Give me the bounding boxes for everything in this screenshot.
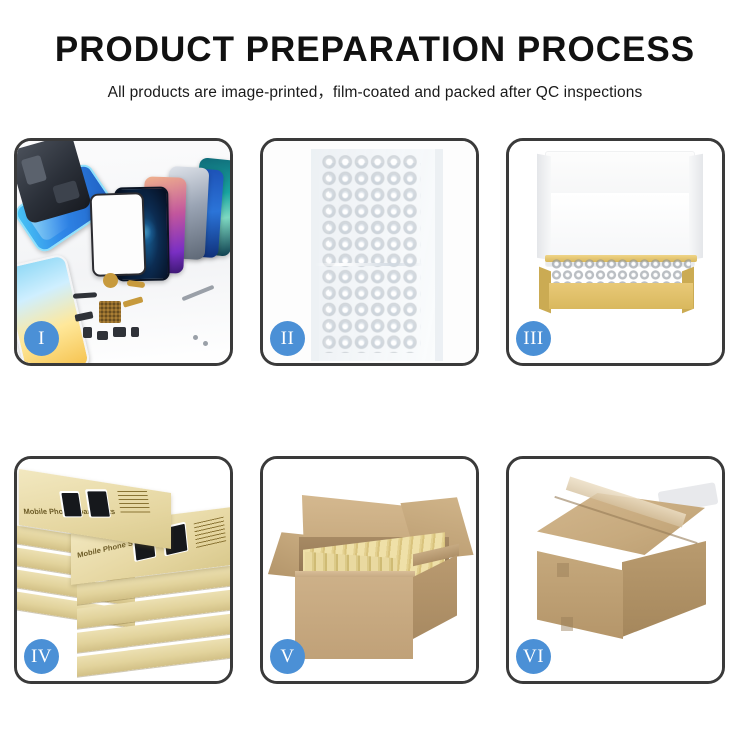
part-connector-1 <box>83 327 92 338</box>
step-badge-1: I <box>24 321 59 356</box>
retail-box-window-back-2 <box>85 489 111 517</box>
page-title: PRODUCT PREPARATION PROCESS <box>0 32 750 69</box>
bubble-wrapped-contents <box>551 259 691 285</box>
part-taptic-engine <box>113 327 126 337</box>
white-foam-sheet <box>551 193 689 257</box>
part-screw-2 <box>203 341 208 346</box>
part-connector-2 <box>97 331 108 340</box>
process-step-panel-1[interactable]: I <box>14 138 233 366</box>
process-step-panel-5[interactable]: V <box>260 456 479 684</box>
step-badge-5: V <box>270 639 305 674</box>
process-step-panel-6[interactable]: VI <box>506 456 725 684</box>
step-badge-6: VI <box>516 639 551 674</box>
process-step-panel-3[interactable]: III <box>506 138 725 366</box>
part-screw-1 <box>193 335 198 340</box>
carton-front-panel <box>295 577 413 659</box>
process-step-panel-4[interactable]: Mobile Phone Spare Parts Mobile Phone Sp… <box>14 456 233 684</box>
retail-box-window-back-1 <box>59 491 83 517</box>
box-front-panel <box>549 283 693 309</box>
pouch-seam <box>315 263 423 266</box>
bubble-pattern-back <box>329 163 421 353</box>
process-step-panel-2[interactable]: II <box>260 138 479 366</box>
step-badge-2: II <box>270 321 305 356</box>
tempered-glass-protector <box>90 192 147 277</box>
part-camera-module <box>99 301 121 323</box>
retail-box-spec-text-back <box>117 491 150 515</box>
page-header: PRODUCT PREPARATION PROCESS All products… <box>0 0 750 102</box>
page-subtitle: All products are image-printed，film-coat… <box>0 80 750 102</box>
process-step-grid: I II III <box>14 138 736 684</box>
carton-handle-tab-top <box>557 563 569 577</box>
step-badge-4: IV <box>24 639 59 674</box>
retail-box-spec-text-front <box>194 517 227 549</box>
carton-handle-tab-bottom <box>561 617 573 631</box>
part-sim-tray <box>131 327 139 337</box>
part-speaker-gold <box>103 273 118 288</box>
step-badge-3: III <box>516 321 551 356</box>
